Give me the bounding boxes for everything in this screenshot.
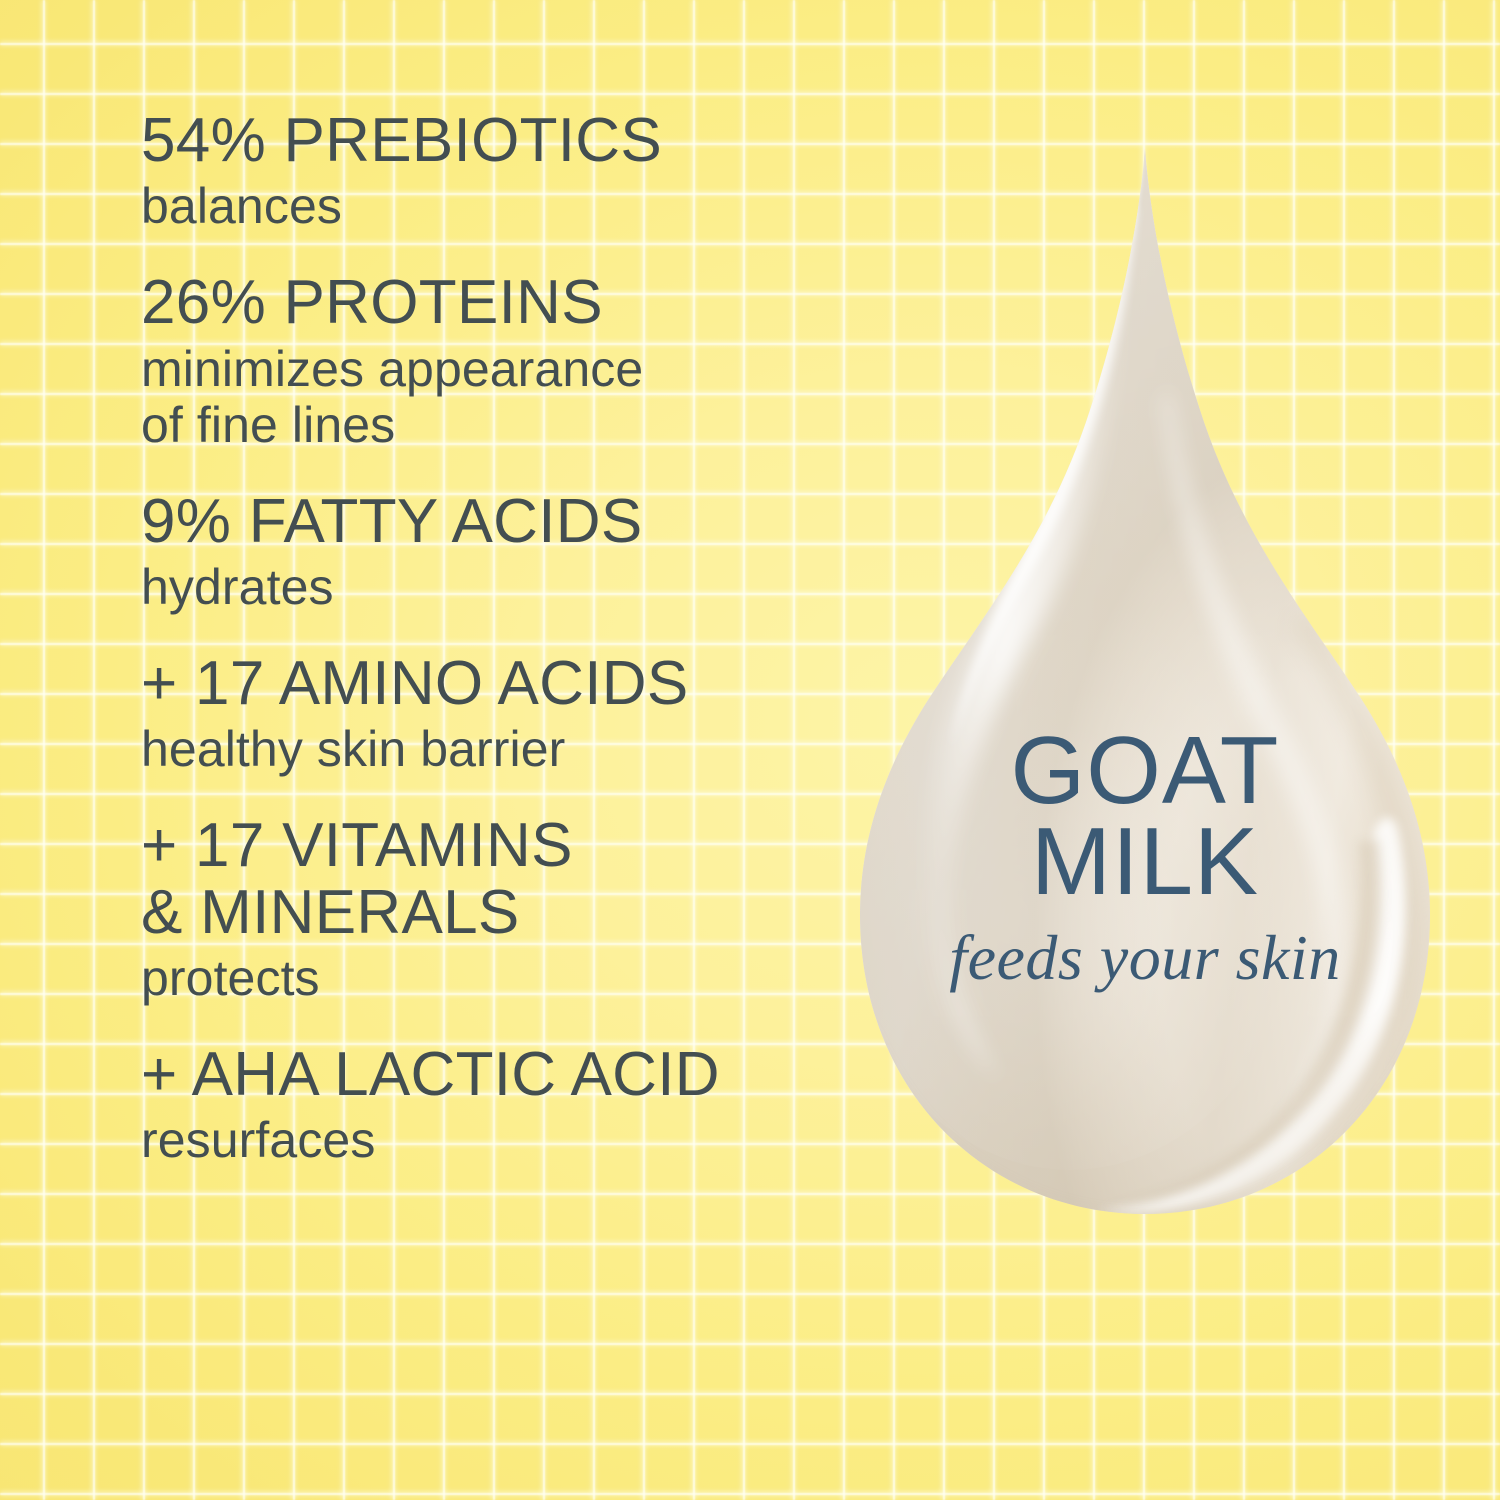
goat-milk-infographic: 54% PREBIOTICS balances 26% PROTEINS min… bbox=[0, 0, 1500, 1500]
ingredient-list: 54% PREBIOTICS balances 26% PROTEINS min… bbox=[141, 108, 861, 1204]
ingredient-item-amino-acids: + 17 AMINO ACIDS healthy skin barrier bbox=[141, 651, 861, 777]
ingredient-benefit: hydrates bbox=[141, 559, 861, 615]
ingredient-headline: + AHA LACTIC ACID bbox=[141, 1042, 861, 1108]
ingredient-item-aha-lactic-acid: + AHA LACTIC ACID resurfaces bbox=[141, 1042, 861, 1168]
ingredient-benefit: minimizes appearance of fine lines bbox=[141, 341, 861, 453]
milk-droplet: GOAT MILK feeds your skin bbox=[840, 140, 1450, 1240]
ingredient-benefit: protects bbox=[141, 950, 861, 1006]
ingredient-headline: + 17 VITAMINS & MINERALS bbox=[141, 813, 861, 946]
ingredient-benefit: healthy skin barrier bbox=[141, 721, 861, 777]
ingredient-item-prebiotics: 54% PREBIOTICS balances bbox=[141, 108, 861, 234]
ingredient-headline: + 17 AMINO ACIDS bbox=[141, 651, 861, 717]
droplet-icon bbox=[840, 140, 1450, 1240]
ingredient-item-fatty-acids: 9% FATTY ACIDS hydrates bbox=[141, 489, 861, 615]
ingredient-headline: 54% PREBIOTICS bbox=[141, 108, 861, 174]
ingredient-headline: 9% FATTY ACIDS bbox=[141, 489, 861, 555]
ingredient-benefit: balances bbox=[141, 178, 861, 234]
ingredient-item-vitamins-minerals: + 17 VITAMINS & MINERALS protects bbox=[141, 813, 861, 1006]
ingredient-headline: 26% PROTEINS bbox=[141, 270, 861, 336]
ingredient-benefit: resurfaces bbox=[141, 1112, 861, 1168]
ingredient-item-proteins: 26% PROTEINS minimizes appearance of fin… bbox=[141, 270, 861, 452]
